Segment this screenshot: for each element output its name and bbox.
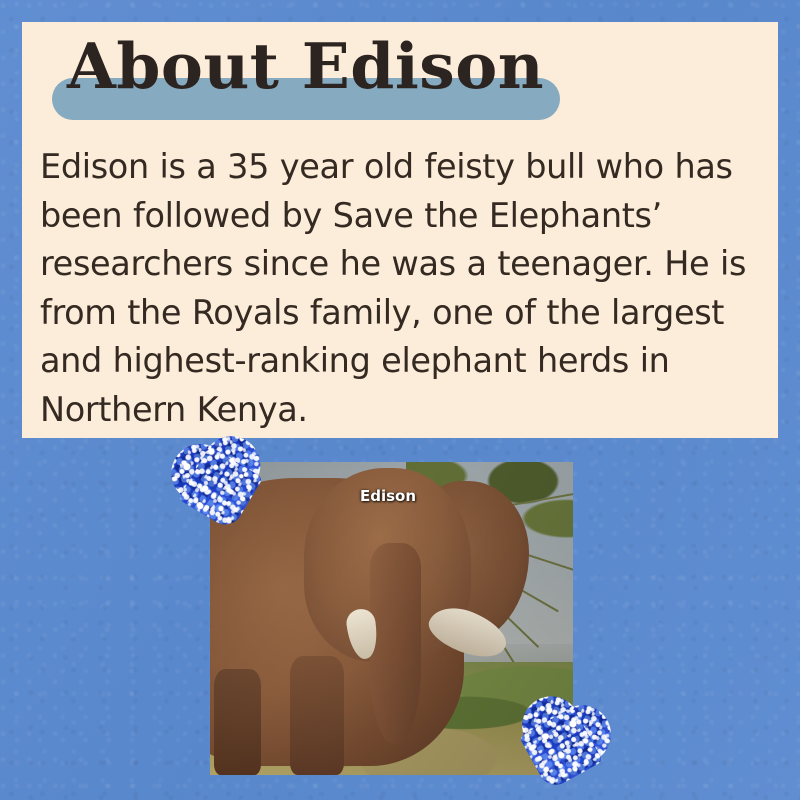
text-card: About Edison Edison is a 35 year old fei… bbox=[22, 22, 778, 438]
photo-caption: Edison bbox=[360, 487, 416, 505]
body-paragraph: Edison is a 35 year old feisty bull who … bbox=[40, 143, 756, 434]
photo-elephant-hind-leg bbox=[214, 669, 261, 775]
photo-elephant-trunk bbox=[370, 543, 421, 743]
page-title: About Edison bbox=[67, 24, 544, 108]
photo-elephant-front-leg bbox=[290, 656, 344, 775]
slide-canvas: About Edison Edison is a 35 year old fei… bbox=[0, 0, 800, 800]
